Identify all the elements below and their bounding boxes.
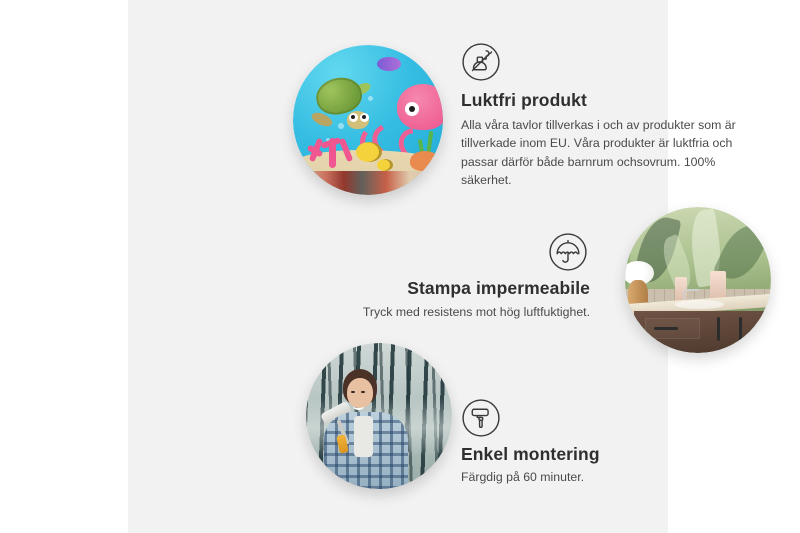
octopus-eye xyxy=(405,102,419,116)
purple-fish-icon xyxy=(377,57,401,71)
feature-odorless-description: Alla våra tavlor tillverkas i och av pro… xyxy=(461,116,757,190)
octopus-head xyxy=(397,84,443,130)
yellow-fish-icon xyxy=(377,159,393,171)
bathroom-wallpaper-photo xyxy=(625,207,771,353)
feature-assembly: Enkel montering Färgdig på 60 minuter. xyxy=(461,398,731,486)
umbrella-icon xyxy=(268,232,590,272)
woman-smile xyxy=(353,403,364,410)
feature-odorless-title: Luktfri produkt xyxy=(461,90,757,111)
feature-assembly-title: Enkel montering xyxy=(461,444,731,465)
photo-bottom-strip xyxy=(293,171,443,195)
underwater-photo-inner xyxy=(293,45,443,195)
feature-waterproof: Stampa impermeabile Tryck med resistens … xyxy=(268,232,590,321)
turtle-eye xyxy=(349,113,358,122)
forest-photo-inner xyxy=(306,343,452,489)
starfish-icon xyxy=(410,151,440,171)
cabinet-handle xyxy=(739,317,742,341)
drawer-handle xyxy=(654,327,678,330)
feature-waterproof-title: Stampa impermeabile xyxy=(268,278,590,299)
no-perfume-spray-icon xyxy=(461,42,757,82)
turtle-eye xyxy=(360,113,369,122)
feature-assembly-description: Färgdig på 60 minuter. xyxy=(461,468,731,486)
inner-shirt xyxy=(354,416,373,457)
installer-forest-photo xyxy=(306,343,452,489)
page-root: Luktfri produkt Alla våra tavlor tillver… xyxy=(0,0,800,533)
bubble-icon xyxy=(368,96,373,101)
paint-roller-icon xyxy=(461,398,731,438)
bathroom-photo-inner xyxy=(625,207,771,353)
coral-icon xyxy=(305,122,359,168)
cabinet-handle xyxy=(717,317,720,341)
feature-waterproof-description: Tryck med resistens mot hög luftfuktighe… xyxy=(268,303,590,321)
feature-odorless: Luktfri produkt Alla våra tavlor tillver… xyxy=(461,42,757,190)
content-panel: Luktfri produkt Alla våra tavlor tillver… xyxy=(128,0,668,533)
yellow-fish-icon xyxy=(356,142,382,162)
underwater-cartoon-photo xyxy=(293,45,443,195)
